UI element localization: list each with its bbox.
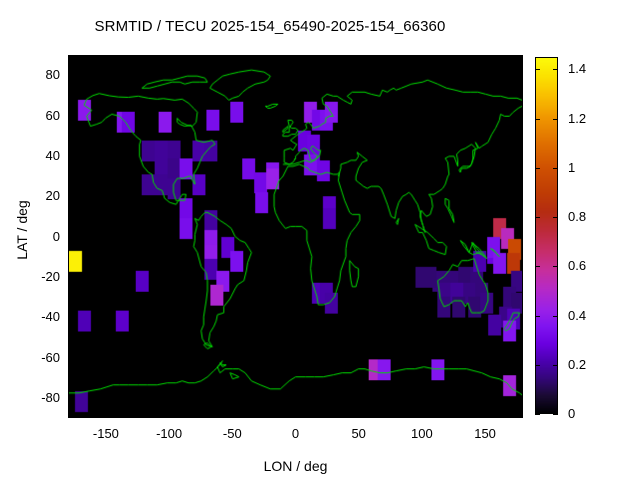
colorbar-tick-mark [535, 266, 540, 267]
y-tick-label: -60 [14, 350, 60, 365]
colorbar-tick-label: 1 [568, 160, 608, 175]
y-tick-mark [68, 398, 73, 399]
colorbar-tick-mark [553, 316, 558, 317]
colorbar-tick-label: 0 [568, 406, 608, 421]
y-tick-label: -40 [14, 309, 60, 324]
colorbar-gradient [536, 58, 557, 413]
colorbar-tick-label: 1.2 [568, 111, 608, 126]
figure-container: SRMTID / TECU 2025-154_65490-2025-154_66… [0, 0, 640, 480]
colorbar-tick-mark [553, 414, 558, 415]
y-tick-mark [68, 116, 73, 117]
map-plot-panel[interactable] [68, 55, 523, 418]
page-title: SRMTID / TECU 2025-154_65490-2025-154_66… [0, 18, 540, 35]
colorbar-tick-mark [535, 217, 540, 218]
y-tick-label: 80 [14, 67, 60, 82]
y-tick-label: 60 [14, 108, 60, 123]
colorbar-tick-mark [553, 69, 558, 70]
x-tick-mark [106, 413, 107, 418]
y-tick-mark [68, 237, 73, 238]
colorbar-tick-mark [535, 69, 540, 70]
x-axis-label: LON / deg [0, 458, 591, 474]
x-tick-label: -150 [76, 426, 136, 441]
colorbar-tick-mark [535, 168, 540, 169]
y-tick-mark [68, 196, 73, 197]
y-tick-label: 20 [14, 188, 60, 203]
y-tick-label: 40 [14, 148, 60, 163]
x-tick-mark [296, 413, 297, 418]
colorbar-tick-label: 0.4 [568, 308, 608, 323]
y-tick-mark [68, 75, 73, 76]
colorbar-tick-label: 0.2 [568, 357, 608, 372]
y-tick-label: -80 [14, 390, 60, 405]
x-tick-label: 100 [392, 426, 452, 441]
y-tick-mark [68, 317, 73, 318]
colorbar-tick-mark [535, 365, 540, 366]
x-tick-mark [232, 413, 233, 418]
x-tick-mark [359, 413, 360, 418]
colorbar-tick-mark [535, 316, 540, 317]
x-tick-mark [422, 413, 423, 418]
x-tick-label: 150 [455, 426, 515, 441]
heatmap-canvas [69, 56, 522, 417]
colorbar-tick-label: 0.8 [568, 209, 608, 224]
x-tick-label: 0 [266, 426, 326, 441]
x-tick-label: 50 [329, 426, 389, 441]
colorbar-tick-mark [553, 266, 558, 267]
x-tick-label: -100 [139, 426, 199, 441]
colorbar-tick-mark [535, 119, 540, 120]
x-tick-mark [169, 413, 170, 418]
x-tick-label: -50 [202, 426, 262, 441]
y-tick-mark [68, 156, 73, 157]
y-tick-label: -20 [14, 269, 60, 284]
colorbar-tick-label: 1.4 [568, 61, 608, 76]
colorbar [535, 57, 558, 414]
colorbar-tick-label: 0.6 [568, 258, 608, 273]
x-tick-mark [485, 413, 486, 418]
colorbar-tick-mark [553, 365, 558, 366]
y-tick-mark [68, 277, 73, 278]
colorbar-tick-mark [553, 168, 558, 169]
colorbar-tick-mark [553, 119, 558, 120]
colorbar-tick-mark [535, 414, 540, 415]
y-tick-mark [68, 358, 73, 359]
y-tick-label: 0 [14, 229, 60, 244]
colorbar-tick-mark [553, 217, 558, 218]
